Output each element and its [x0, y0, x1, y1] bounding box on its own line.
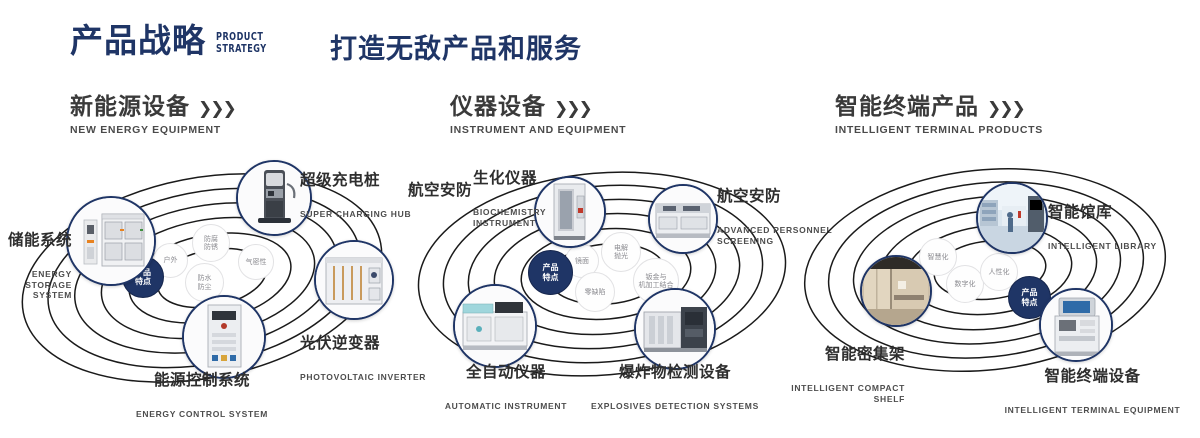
section-title-en: INTELLIGENT TERMINAL PRODUCTS: [835, 124, 1043, 136]
section-title-new-energy: 新能源设备❯❯❯ NEW ENERGY EQUIPMENT: [70, 95, 235, 136]
caption-biochemistry-instrument: 生化仪器 BIOCHEMISTRY INSTRUMENT: [473, 152, 591, 246]
cluster-new-energy-equipment: 防腐 防锈 户外 气密性 防水 防尘 产品 特点 储: [0, 150, 420, 400]
caption-intelligent-library: 智能馆库 INTELLIGENT LIBRARY: [1048, 186, 1193, 270]
section-title-terminal: 智能终端产品❯❯❯ INTELLIGENT TERMINAL PRODUCTS: [835, 95, 1043, 136]
energy-storage-cabinet-icon: [68, 198, 154, 284]
pv-inverter-cabinet-icon: [316, 242, 392, 318]
feature-bubble: 电解 抛光: [601, 232, 641, 272]
caption-aviation-security: 航空安防: [390, 164, 472, 217]
cluster-instrument-and-equipment: 镜面 电解 抛光 零缺陷 钣金与 机加工结合 产品 特点 航空安防 生化仪器 B…: [395, 150, 815, 400]
caption-energy-storage-system: 储能系统 ENERGY STORAGE SYSTEM: [0, 214, 72, 319]
screening-machine-icon: [650, 186, 716, 252]
node-photovoltaic-inverter[interactable]: [314, 240, 394, 320]
compact-shelf-icon: [862, 257, 930, 325]
page-title-cn: 产品战略: [70, 24, 206, 57]
caption-automatic-instrument: 全自动仪器 AUTOMATIC INSTRUMENT: [423, 346, 589, 430]
page-subtitle: 打造无敌产品和服务: [330, 36, 582, 63]
cluster-intelligent-terminal-products: 智慧化 数字化 人性化 产品 特点 智能馆库 I: [790, 150, 1200, 400]
feature-bubble: 零缺陷: [575, 272, 615, 312]
section-title-cn: 智能终端产品❯❯❯: [835, 95, 1043, 119]
caption-intelligent-compact-shelf: 智能密集架 INTELLIGENT COMPACT SHELF: [760, 328, 905, 422]
section-title-cn: 仪器设备❯❯❯: [450, 95, 626, 119]
feature-bubble: 数字化: [946, 265, 984, 303]
product-strategy-infographic: 产品战略 PRODUCT STRATEGY 打造无敌产品和服务 新能源设备❯❯❯…: [0, 0, 1200, 422]
section-title-cn: 新能源设备❯❯❯: [70, 95, 235, 119]
page-title-en: PRODUCT STRATEGY: [216, 31, 267, 55]
section-title-en: INSTRUMENT AND EQUIPMENT: [450, 124, 626, 136]
feature-bubble: 防腐 防锈: [192, 224, 230, 262]
caption-explosives-detection-systems: 爆炸物检测设备 EXPLOSIVES DETECTION SYSTEMS: [565, 346, 785, 430]
node-advanced-personnel-screening[interactable]: [648, 184, 718, 254]
library-room-icon: [978, 184, 1046, 252]
section-title-en: NEW ENERGY EQUIPMENT: [70, 124, 235, 136]
section-title-instrument: 仪器设备❯❯❯ INSTRUMENT AND EQUIPMENT: [450, 95, 626, 136]
feature-bubble: 气密性: [238, 244, 274, 280]
caption-energy-control-system: 能源控制系统 ENERGY CONTROL SYSTEM: [82, 354, 322, 438]
node-intelligent-compact-shelf[interactable]: [860, 255, 932, 327]
caption-intelligent-terminal-equipment: 智能终端设备 INTELLIGENT TERMINAL EQUIPMENT: [985, 350, 1200, 434]
chevrons-icon: ❯❯❯: [987, 99, 1024, 119]
chevrons-icon: ❯❯❯: [198, 99, 235, 119]
node-energy-storage-system[interactable]: [66, 196, 156, 286]
page-header: 产品战略 PRODUCT STRATEGY: [70, 24, 278, 57]
chevrons-icon: ❯❯❯: [554, 99, 591, 119]
node-intelligent-library[interactable]: [976, 182, 1048, 254]
